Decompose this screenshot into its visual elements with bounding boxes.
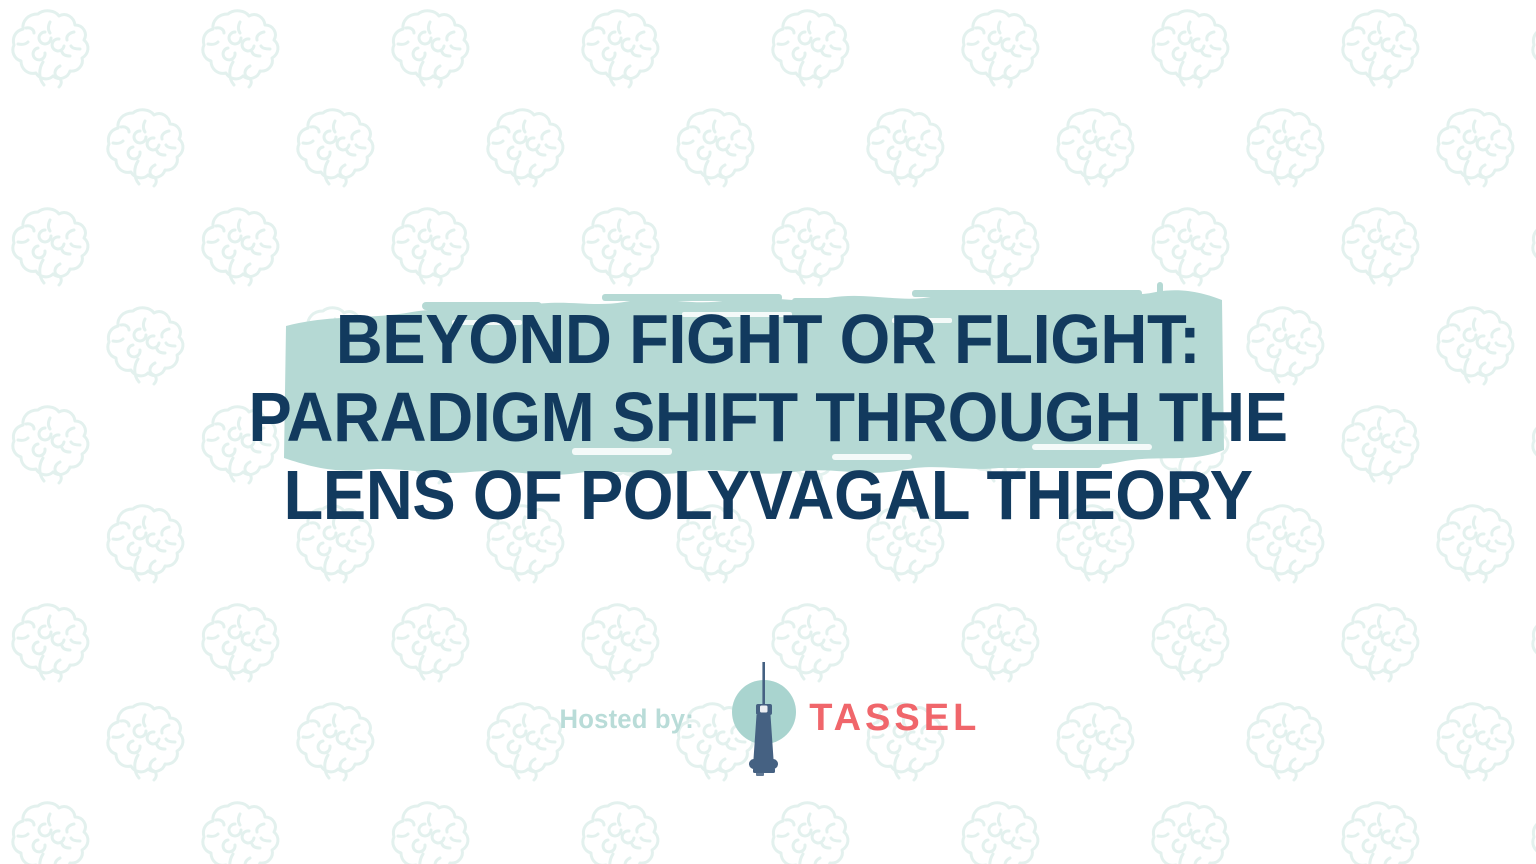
slide-title: BEYOND FIGHT OR FLIGHT: PARADIGM SHIFT T… bbox=[0, 300, 1536, 534]
title-line-2: PARADIGM SHIFT THROUGH THE bbox=[54, 378, 1482, 456]
tassel-icon bbox=[725, 660, 803, 780]
title-line-1: BEYOND FIGHT OR FLIGHT: bbox=[54, 300, 1482, 378]
brand-logo-lockup: TASSEL bbox=[725, 660, 980, 780]
title-line-3: LENS OF POLYVAGAL THEORY bbox=[54, 456, 1482, 534]
brand-name: TASSEL bbox=[809, 697, 980, 740]
hosted-by-label: Hosted by: bbox=[559, 704, 693, 735]
presentation-slide: BEYOND FIGHT OR FLIGHT: PARADIGM SHIFT T… bbox=[0, 0, 1536, 864]
slide-footer: Hosted by: TASSEL bbox=[0, 660, 1536, 780]
